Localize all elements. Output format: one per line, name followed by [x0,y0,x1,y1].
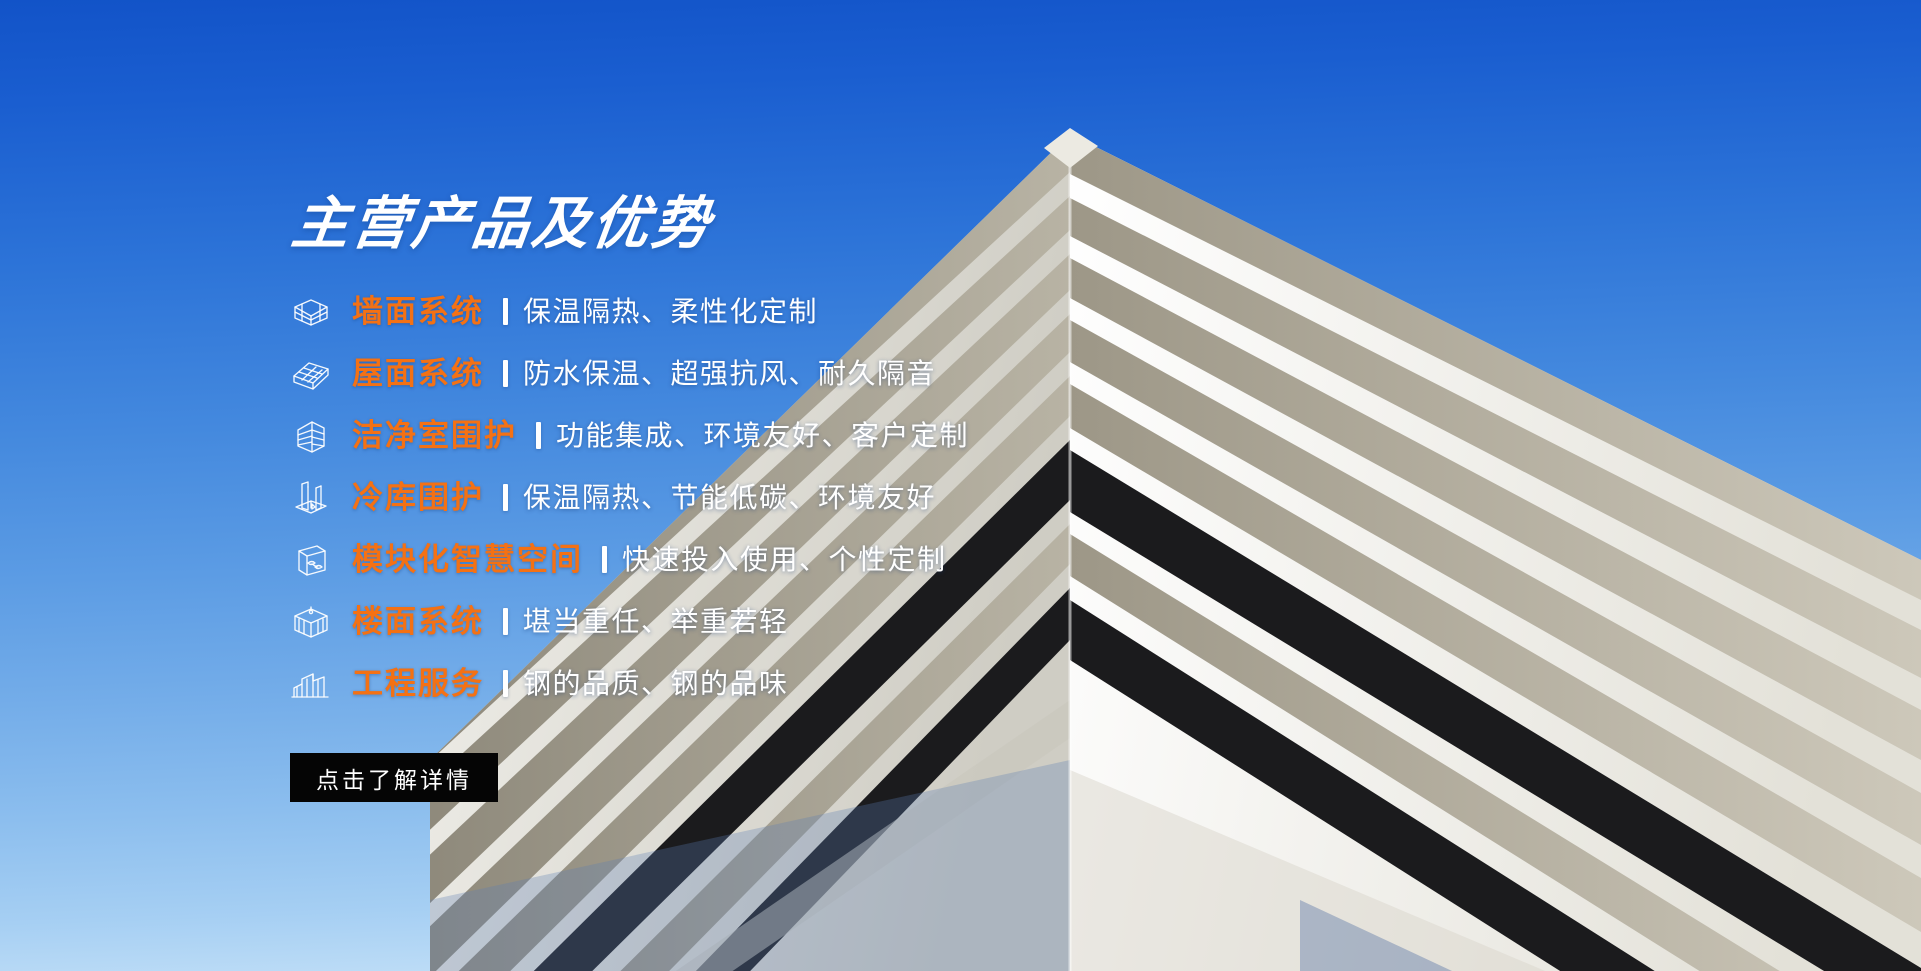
list-item[interactable]: 模块化智慧空间 快速投入使用、个性定制 [288,535,1128,584]
list-item[interactable]: 工程服务 钢的品质、钢的品味 [288,659,1128,708]
page-title: 主营产品及优势 [285,196,1132,253]
product-list: 墙面系统 保温隔热、柔性化定制 屋面系统 [288,287,1128,708]
banner-content: 主营产品及优势 墙面系统 保温隔热、柔性化定制 [288,196,1128,802]
product-category: 洁净室围护 [352,420,517,451]
product-category: 屋面系统 [352,358,484,389]
engineering-service-icon [288,663,334,705]
product-description: 堪当重任、举重若轻 [523,608,789,636]
product-advantages-banner: 主营产品及优势 墙面系统 保温隔热、柔性化定制 [0,0,1921,971]
list-item[interactable]: 楼面系统 堪当重任、举重若轻 [288,597,1128,646]
list-item[interactable]: 屋面系统 防水保温、超强抗风、耐久隔音 [288,349,1128,398]
separator-bar [503,360,508,387]
separator-bar [503,670,508,697]
separator-bar [503,608,508,635]
list-item[interactable]: 洁净室围护 功能集成、环境友好、客户定制 [288,411,1128,460]
list-item[interactable]: 墙面系统 保温隔热、柔性化定制 [288,287,1128,336]
product-category: 模块化智慧空间 [352,544,583,575]
modular-space-icon [288,539,334,581]
separator-bar [503,484,508,511]
wall-system-icon [288,291,334,333]
product-description: 钢的品质、钢的品味 [523,670,789,698]
product-category: 工程服务 [352,668,484,699]
floor-system-icon [288,601,334,643]
separator-bar [602,546,607,573]
product-category: 冷库围护 [352,482,484,513]
product-description: 快速投入使用、个性定制 [622,546,947,574]
separator-bar [503,298,508,325]
product-description: 防水保温、超强抗风、耐久隔音 [523,360,936,388]
cold-storage-icon [288,477,334,519]
product-description: 功能集成、环境友好、客户定制 [556,422,969,450]
product-description: 保温隔热、节能低碳、环境友好 [523,484,936,512]
list-item[interactable]: 冷库围护 保温隔热、节能低碳、环境友好 [288,473,1128,522]
cleanroom-envelope-icon [288,415,334,457]
roof-system-icon [288,353,334,395]
product-category: 楼面系统 [352,606,484,637]
separator-bar [536,422,541,449]
learn-more-button[interactable]: 点击了解详情 [290,753,498,802]
product-category: 墙面系统 [352,296,484,327]
product-description: 保温隔热、柔性化定制 [523,298,818,326]
